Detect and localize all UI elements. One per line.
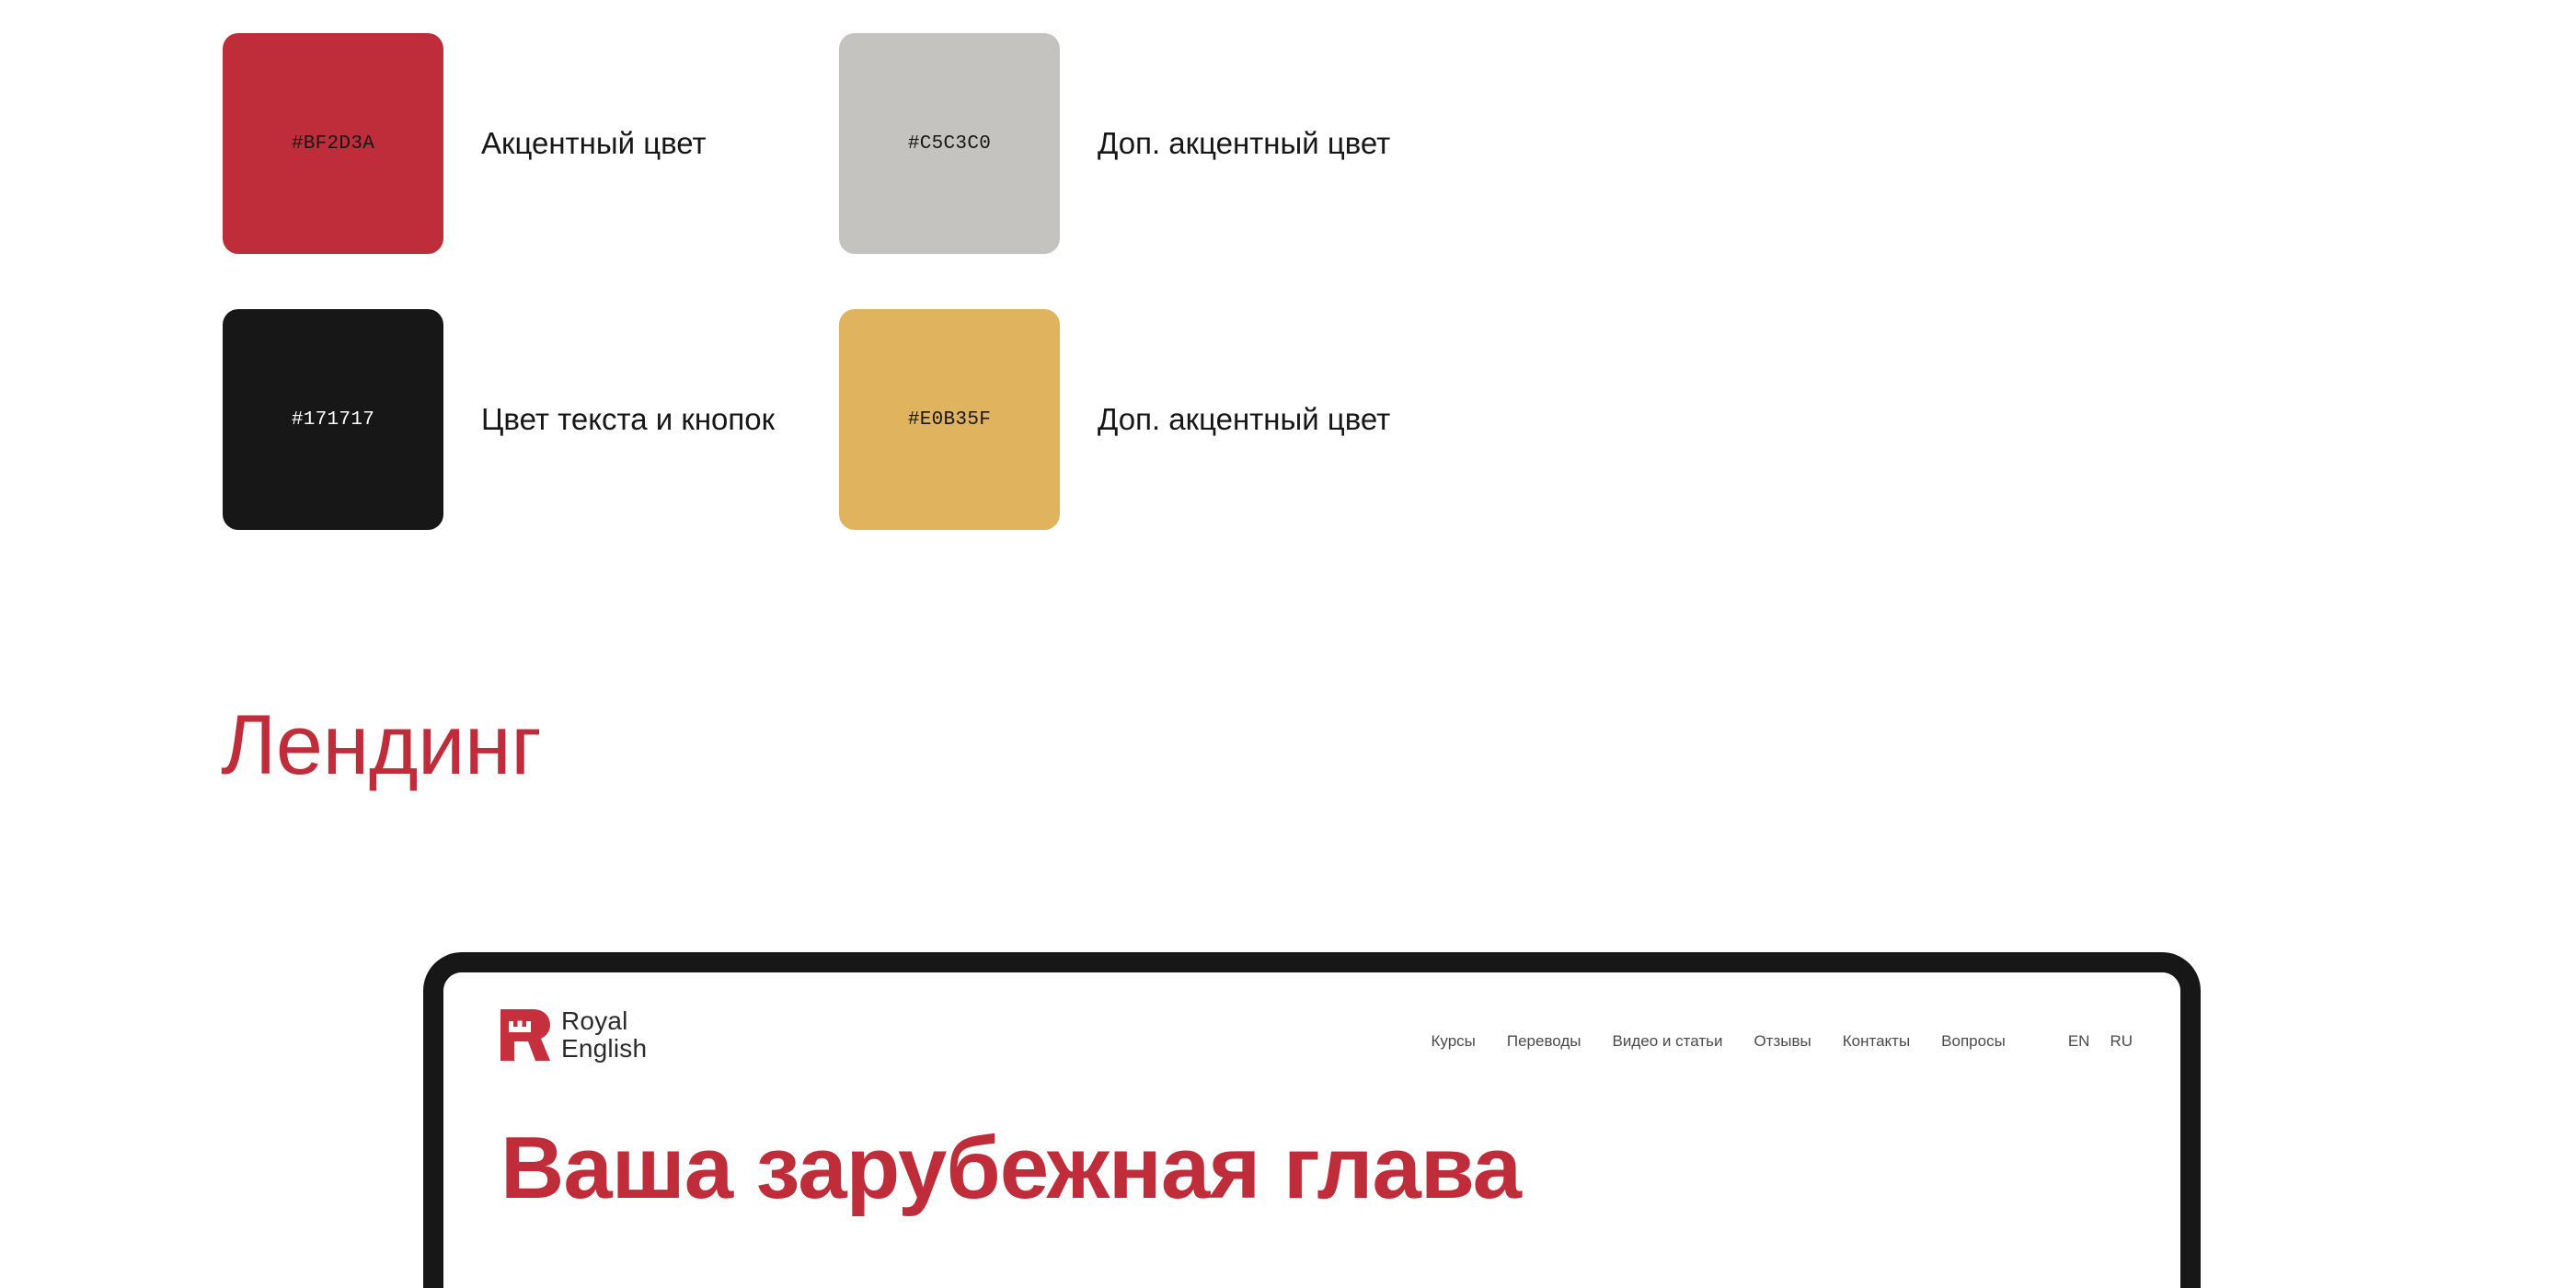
mockup-hero-section: Ваша зарубежная глава <box>443 1062 2180 1218</box>
site-logo[interactable]: Royal English <box>500 1007 647 1062</box>
palette-cell-accent: #BF2D3A Акцентный цвет <box>223 33 839 254</box>
swatch-hex-code: #C5C3C0 <box>908 133 991 155</box>
nav-item-kursy[interactable]: Курсы <box>1431 1032 1475 1051</box>
landing-page-mockup-frame: Royal English Курсы Переводы Видео и ста… <box>423 952 2201 1288</box>
color-swatch-accent-secondary-gray: #C5C3C0 <box>839 33 1060 254</box>
nav-item-perevody[interactable]: Переводы <box>1507 1032 1581 1051</box>
swatch-hex-code: #E0B35F <box>908 409 991 431</box>
color-swatch-accent: #BF2D3A <box>223 33 443 254</box>
swatch-hex-code: #171717 <box>292 409 374 431</box>
logo-line-royal: Royal <box>561 1007 647 1035</box>
nav-item-video-i-stati[interactable]: Видео и статьи <box>1613 1032 1723 1051</box>
color-swatch-text-and-buttons: #171717 <box>223 309 443 530</box>
palette-cell-accent-secondary-gold: #E0B35F Доп. акцентный цвет <box>839 309 1390 530</box>
nav-item-kontakty[interactable]: Контакты <box>1843 1032 1910 1051</box>
logo-line-english: English <box>561 1035 647 1063</box>
palette-row: #BF2D3A Акцентный цвет #C5C3C0 Доп. акце… <box>223 33 2339 254</box>
language-option-en[interactable]: EN <box>2068 1032 2090 1051</box>
mockup-site-header: Royal English Курсы Переводы Видео и ста… <box>443 972 2180 1062</box>
site-logo-text: Royal English <box>561 1007 647 1062</box>
royal-english-crown-r-logo-icon <box>500 1009 550 1061</box>
palette-cell-accent-secondary-gray: #C5C3C0 Доп. акцентный цвет <box>839 33 1390 254</box>
section-heading-landing: Лендинг <box>221 701 541 790</box>
swatch-label: Доп. акцентный цвет <box>1098 123 1390 164</box>
hero-headline: Ваша зарубежная глава <box>500 1119 2123 1218</box>
palette-cell-text-and-buttons: #171717 Цвет текста и кнопок <box>223 309 839 530</box>
language-option-ru[interactable]: RU <box>2110 1032 2133 1051</box>
nav-item-voprosy[interactable]: Вопросы <box>1941 1032 2006 1051</box>
landing-page-mockup-screen: Royal English Курсы Переводы Видео и ста… <box>443 972 2180 1288</box>
swatch-hex-code: #BF2D3A <box>292 133 374 155</box>
language-switcher: EN RU <box>2068 1032 2133 1051</box>
palette-row: #171717 Цвет текста и кнопок #E0B35F Доп… <box>223 309 2339 530</box>
mockup-main-nav: Курсы Переводы Видео и статьи Отзывы Кон… <box>1431 1019 2133 1051</box>
color-palette-section: #BF2D3A Акцентный цвет #C5C3C0 Доп. акце… <box>223 33 2339 585</box>
nav-item-otzyvy[interactable]: Отзывы <box>1754 1032 1811 1051</box>
swatch-label: Доп. акцентный цвет <box>1098 399 1390 440</box>
color-swatch-accent-secondary-gold: #E0B35F <box>839 309 1060 530</box>
swatch-label: Цвет текста и кнопок <box>481 399 775 440</box>
swatch-label: Акцентный цвет <box>481 123 707 164</box>
